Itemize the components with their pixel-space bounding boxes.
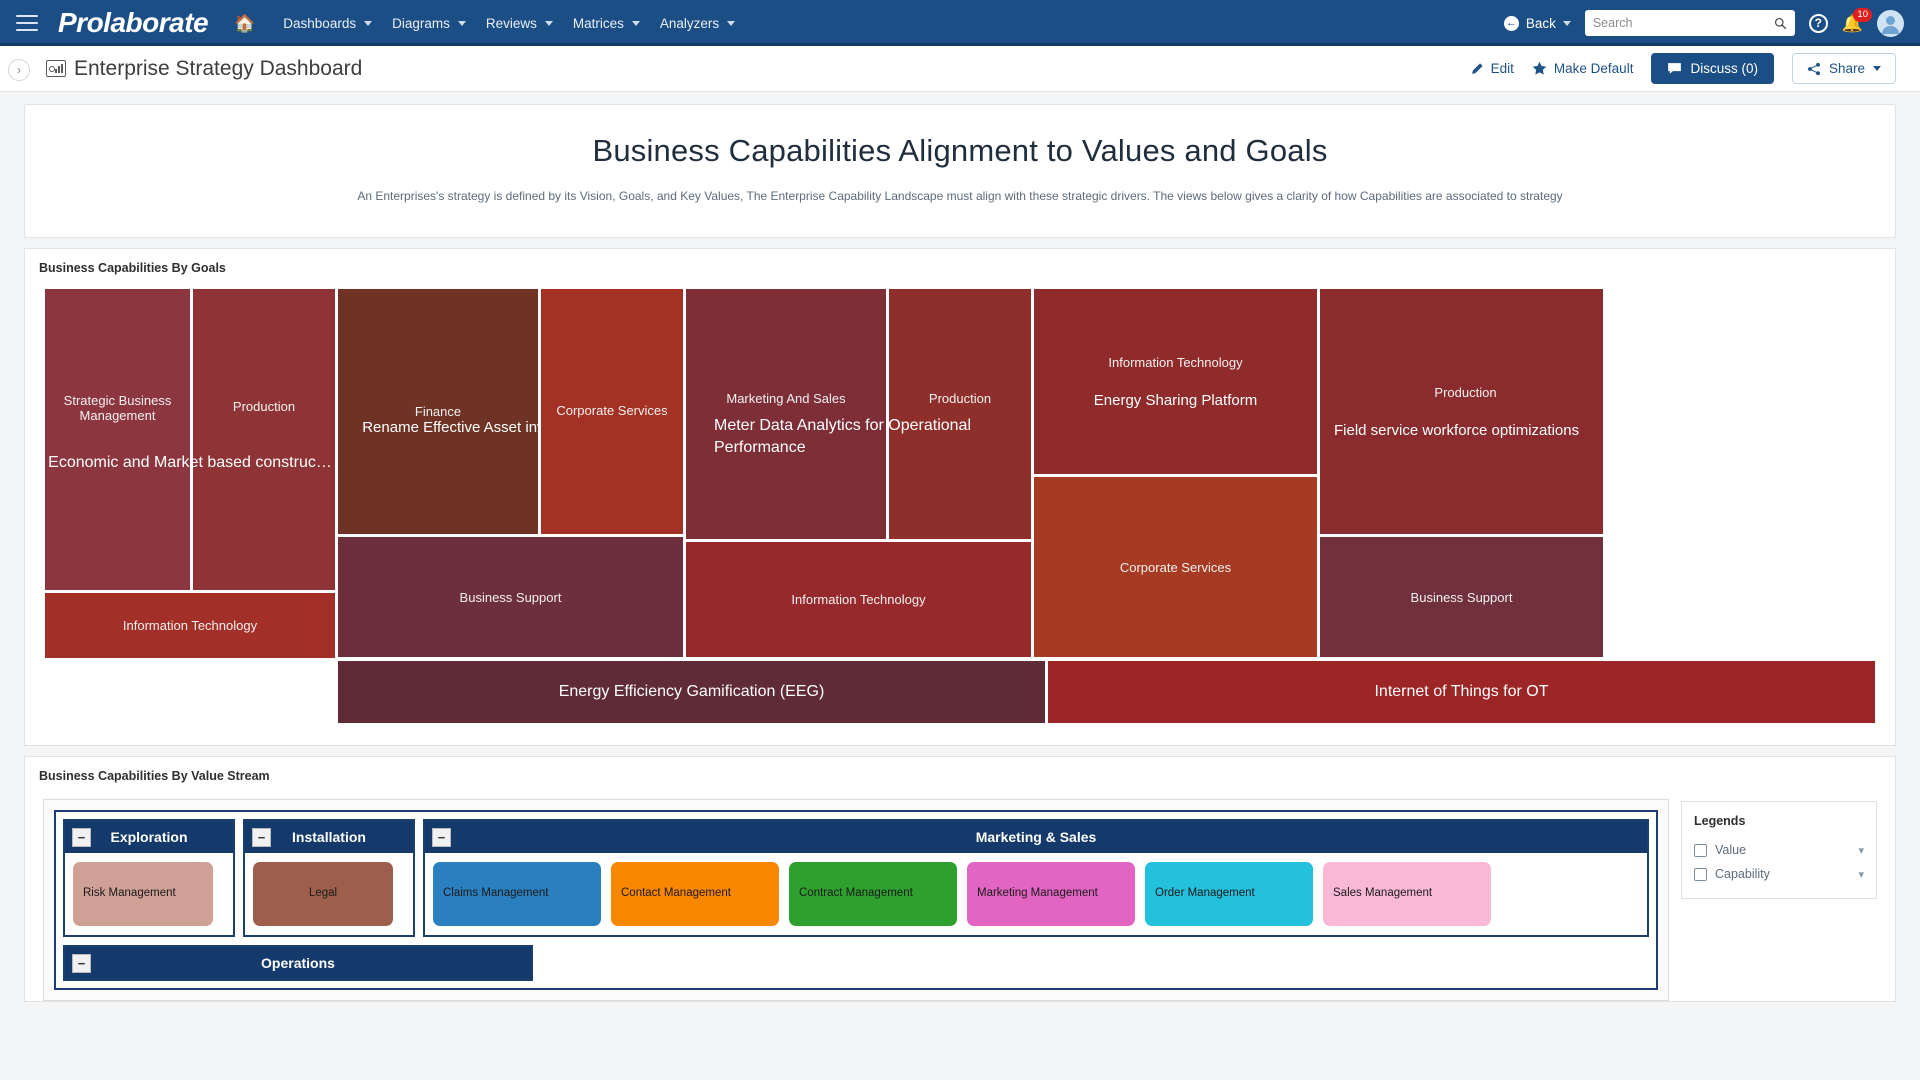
lane-header[interactable]: − Operations <box>65 947 531 979</box>
legend-checkbox[interactable] <box>1694 844 1707 857</box>
treemap-cell[interactable]: Corporate Services <box>541 289 683 534</box>
hero-card: Business Capabilities Alignment to Value… <box>24 104 1896 238</box>
nav-label: Diagrams <box>392 16 450 31</box>
treemap-group: Production Field service workforce optim… <box>1320 289 1603 658</box>
value-stream-lane-row: − Exploration Risk Management − Inst <box>63 819 1649 937</box>
treemap-cell-category: Information Technology <box>1108 355 1242 370</box>
treemap-cell-value: Field service workforce optimizations <box>1334 422 1579 439</box>
chevron-down-icon <box>727 21 735 26</box>
search-box[interactable] <box>1585 10 1795 36</box>
avatar[interactable] <box>1877 10 1904 37</box>
chevron-down-icon[interactable] <box>1563 21 1571 26</box>
treemap-row: Finance Rename Effective Asset investmen… <box>338 289 683 534</box>
treemap-cell[interactable]: Production <box>889 289 1031 539</box>
hero-subtext: An Enterprises's strategy is defined by … <box>49 189 1871 203</box>
share-button[interactable]: Share <box>1792 53 1896 84</box>
home-icon[interactable]: 🏠 <box>234 15 255 32</box>
chevron-down-icon <box>458 21 466 26</box>
treemap-row: Strategic Business Management Production… <box>45 289 335 590</box>
lane-body: Risk Management <box>65 853 233 935</box>
legend-label: Capability <box>1715 867 1850 881</box>
nav-label: Matrices <box>573 16 624 31</box>
capability-card[interactable]: Marketing Management <box>967 862 1135 926</box>
lane-title: Installation <box>249 829 409 845</box>
nav-label: Reviews <box>486 16 537 31</box>
value-stream-body: − Exploration Risk Management − Inst <box>25 791 1895 1001</box>
page-title-bar: › Enterprise Strategy Dashboard Edit Mak… <box>0 46 1920 92</box>
goals-panel: Business Capabilities By Goals Strategic… <box>24 248 1896 746</box>
treemap-container: Strategic Business Management Production… <box>25 283 1895 745</box>
search-icon[interactable] <box>1774 17 1787 30</box>
notification-badge: 10 <box>1853 8 1872 22</box>
make-default-button[interactable]: Make Default <box>1532 61 1634 76</box>
edit-button[interactable]: Edit <box>1470 61 1514 76</box>
treemap-cell-value: Energy Efficiency Gamification (EEG) <box>559 683 825 701</box>
value-stream-panel: Business Capabilities By Value Stream − … <box>24 756 1896 1002</box>
value-stream-lane-row: − Operations <box>63 945 1649 981</box>
chevron-down-icon <box>632 21 640 26</box>
treemap-cell-category: Production <box>1334 385 1597 400</box>
discuss-button[interactable]: Discuss (0) <box>1651 53 1774 84</box>
lane-header[interactable]: − Marketing & Sales <box>425 821 1647 853</box>
capability-card[interactable]: Contract Management <box>789 862 957 926</box>
treemap-cell-category: Corporate Services <box>1120 560 1231 575</box>
nav-item-reviews[interactable]: Reviews <box>478 10 561 37</box>
treemap-cell-category: Business Support <box>1411 590 1513 605</box>
hamburger-menu-icon[interactable] <box>16 15 38 31</box>
treemap-row: Marketing And Sales Production Meter Dat… <box>686 289 1031 539</box>
lane-operations[interactable]: − Operations <box>63 945 533 981</box>
treemap-cell[interactable]: Corporate Services <box>1034 477 1317 657</box>
lane-installation[interactable]: − Installation Legal <box>243 819 415 937</box>
nav-item-diagrams[interactable]: Diagrams <box>384 10 474 37</box>
star-icon <box>1532 61 1547 76</box>
lane-body: Claims Management Contact Management Con… <box>425 853 1647 935</box>
legend-label: Value <box>1715 843 1850 857</box>
treemap-group: Finance Rename Effective Asset investmen… <box>338 289 683 658</box>
treemap-top-region: Strategic Business Management Production… <box>45 289 1875 658</box>
treemap-cell-category: Finance <box>415 404 461 419</box>
chevron-down-icon <box>1873 66 1881 71</box>
minus-icon[interactable]: − <box>252 828 271 847</box>
treemap-cell-value: Rename Effective Asset investment planni… <box>338 419 538 436</box>
value-stream-board: − Exploration Risk Management − Inst <box>54 810 1658 990</box>
notifications-button[interactable]: 🔔 10 <box>1842 15 1863 32</box>
top-navigation-bar: Prolaborate 🏠 Dashboards Diagrams Review… <box>0 0 1920 46</box>
treemap-cell[interactable]: Strategic Business Management <box>45 289 190 590</box>
treemap-cell-value: Economic and Market based construc… <box>45 454 335 472</box>
edit-label: Edit <box>1491 61 1514 76</box>
treemap-cell[interactable]: Production <box>193 289 335 590</box>
chevron-down-icon <box>545 21 553 26</box>
treemap-cell[interactable]: Marketing And Sales <box>686 289 886 539</box>
share-label: Share <box>1829 61 1865 76</box>
treemap-cell-category: Marketing And Sales <box>726 391 845 406</box>
nav-item-matrices[interactable]: Matrices <box>565 10 648 37</box>
page-title: Enterprise Strategy Dashboard <box>74 57 362 81</box>
page-actions: Edit Make Default Discuss (0) Share <box>1470 53 1896 84</box>
dashboard-body: Business Capabilities Alignment to Value… <box>0 92 1920 1080</box>
make-default-label: Make Default <box>1554 61 1634 76</box>
lane-header[interactable]: − Exploration <box>65 821 233 853</box>
treemap-cell-value: Internet of Things for OT <box>1374 683 1548 701</box>
treemap-cell-category: Production <box>929 391 991 406</box>
chevron-down-icon[interactable]: ▾ <box>1858 844 1864 857</box>
back-button[interactable]: ← Back <box>1504 16 1571 31</box>
legend-checkbox[interactable] <box>1694 868 1707 881</box>
lane-body: Legal <box>245 853 413 935</box>
lane-marketing-sales[interactable]: − Marketing & Sales Claims Management Co… <box>423 819 1649 937</box>
value-stream-panel-title: Business Capabilities By Value Stream <box>25 757 1895 791</box>
search-input[interactable] <box>1593 16 1768 30</box>
treemap-group: Marketing And Sales Production Meter Dat… <box>686 289 1031 658</box>
treemap-cell[interactable]: Information Technology <box>45 593 335 658</box>
lane-title: Operations <box>69 955 527 971</box>
help-icon[interactable]: ? <box>1809 14 1828 33</box>
treemap-cell[interactable]: Finance Rename Effective Asset investmen… <box>338 289 538 534</box>
legend-item-value[interactable]: Value ▾ <box>1694 838 1864 862</box>
capability-card[interactable]: Risk Management <box>73 862 213 926</box>
chevron-down-icon <box>364 21 372 26</box>
legend-item-capability[interactable]: Capability ▾ <box>1694 862 1864 886</box>
treemap-cell-category: Strategic Business Management <box>51 393 184 423</box>
lane-title: Marketing & Sales <box>429 829 1643 845</box>
pencil-icon <box>1470 62 1484 76</box>
chevron-down-icon[interactable]: ▾ <box>1858 868 1864 881</box>
value-stream-canvas: − Exploration Risk Management − Inst <box>43 799 1669 1001</box>
back-arrow-icon: ← <box>1504 16 1519 31</box>
legends-panel: Legends Value ▾ Capability ▾ <box>1681 801 1877 899</box>
avatar-glyph <box>1877 10 1904 37</box>
capability-card[interactable]: Sales Management <box>1323 862 1491 926</box>
treemap-cell-category: Information Technology <box>123 618 257 633</box>
treemap-cell-category: Business Support <box>460 590 562 605</box>
nav-label: Dashboards <box>283 16 356 31</box>
goals-panel-title: Business Capabilities By Goals <box>25 249 1895 283</box>
minus-icon[interactable]: − <box>72 828 91 847</box>
treemap-cell-category: Information Technology <box>791 592 925 607</box>
treemap-cell[interactable]: Production Field service workforce optim… <box>1320 289 1603 534</box>
capability-card[interactable]: Contact Management <box>611 862 779 926</box>
lane-exploration[interactable]: − Exploration Risk Management <box>63 819 235 937</box>
capability-card[interactable]: Legal <box>253 862 393 926</box>
treemap-cell-value: Meter Data Analytics for Operational Per… <box>714 415 1021 458</box>
capability-card[interactable]: Order Management <box>1145 862 1313 926</box>
brand-logo[interactable]: Prolaborate <box>58 7 208 39</box>
treemap-cell[interactable]: Information Technology <box>686 542 1031 657</box>
nav-item-dashboards[interactable]: Dashboards <box>275 10 380 37</box>
treemap-cell[interactable]: Business Support <box>338 537 683 657</box>
treemap-cell[interactable]: Information Technology Energy Sharing Pl… <box>1034 289 1317 474</box>
treemap-chart: Strategic Business Management Production… <box>45 289 1875 723</box>
lane-title: Exploration <box>69 829 229 845</box>
sidebar-expand-icon[interactable]: › <box>8 59 30 81</box>
discuss-label: Discuss (0) <box>1690 61 1758 76</box>
top-navigation-right: ← Back ? 🔔 10 <box>1504 10 1904 37</box>
legends-title: Legends <box>1694 814 1864 828</box>
minus-icon[interactable]: − <box>72 954 91 973</box>
treemap-cell[interactable]: Internet of Things for OT <box>1048 661 1875 723</box>
minus-icon[interactable]: − <box>432 828 451 847</box>
treemap-cell-category: Production <box>233 399 295 414</box>
share-icon <box>1807 62 1821 76</box>
back-label: Back <box>1526 16 1556 31</box>
treemap-cell[interactable]: Business Support <box>1320 537 1603 657</box>
nav-item-analyzers[interactable]: Analyzers <box>652 10 743 37</box>
hero-heading: Business Capabilities Alignment to Value… <box>49 133 1871 169</box>
comment-icon <box>1667 61 1682 76</box>
main-menu: Dashboards Diagrams Reviews Matrices Ana… <box>275 10 743 37</box>
capability-card[interactable]: Claims Management <box>433 862 601 926</box>
lane-header[interactable]: − Installation <box>245 821 413 853</box>
treemap-group: Strategic Business Management Production… <box>45 289 335 658</box>
nav-label: Analyzers <box>660 16 719 31</box>
dashboard-icon <box>46 60 66 77</box>
treemap-cell[interactable]: Energy Efficiency Gamification (EEG) <box>338 661 1045 723</box>
treemap-group: Information Technology Energy Sharing Pl… <box>1034 289 1317 658</box>
treemap-cell-value: Energy Sharing Platform <box>1094 392 1257 409</box>
treemap-bottom-region: Energy Efficiency Gamification (EEG) Int… <box>45 661 1875 723</box>
treemap-cell-category: Corporate Services <box>556 403 667 418</box>
